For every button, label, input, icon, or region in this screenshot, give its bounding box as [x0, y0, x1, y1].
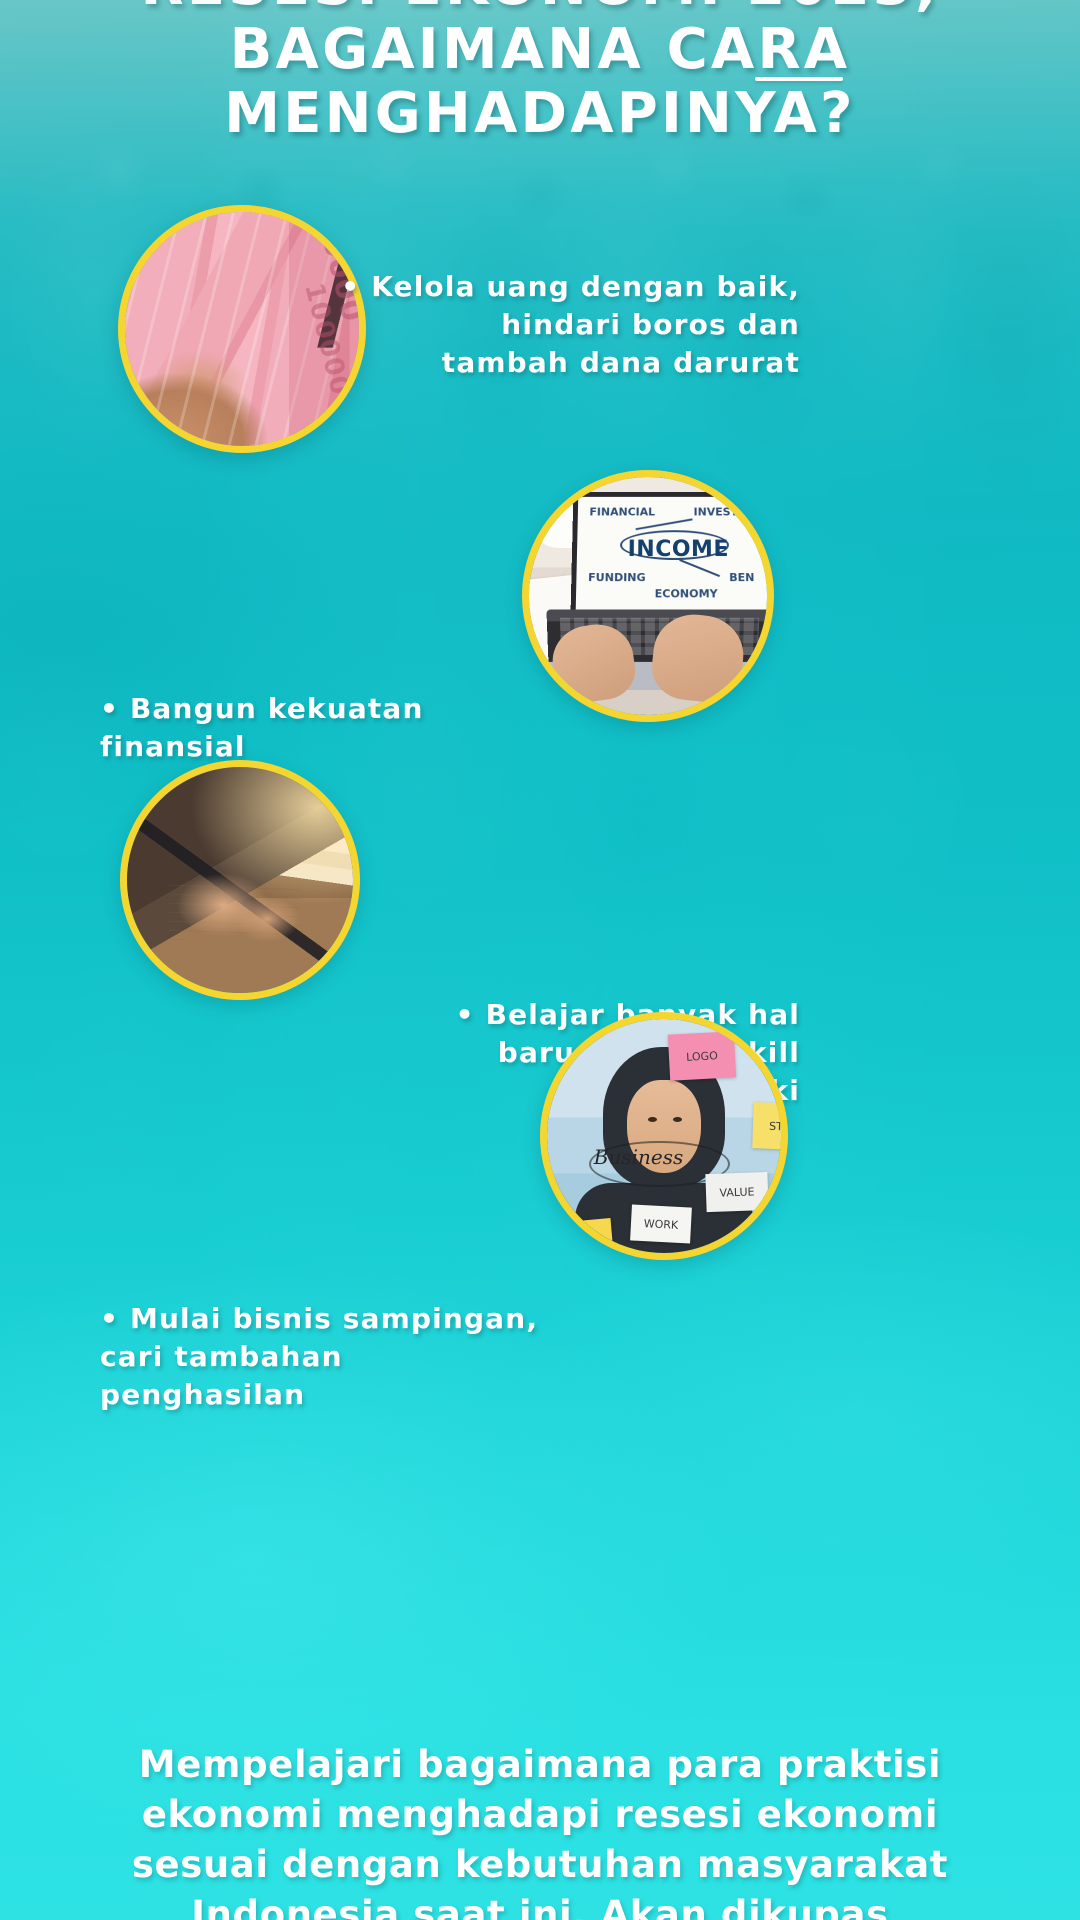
diagram-arrow-1 [636, 519, 693, 531]
business-photo-bubble: Business LOGO ST VALUE WORK [540, 1012, 788, 1260]
laptop-screen: FINANCIAL INVESTING INCOME FUNDING ECONO… [570, 492, 767, 615]
bullet-kelola-uang: • Kelola uang dengan baik, hindari boros… [330, 268, 800, 382]
sticky-note-work: WORK [630, 1205, 692, 1244]
bullet-1-line-3: tambah dana darurat [330, 344, 800, 382]
sticky-note-logo: LOGO [668, 1031, 736, 1080]
business-photo-frame: Business LOGO ST VALUE WORK [547, 1019, 781, 1253]
bullet-2-line-1: • Bangun kekuatan [100, 690, 500, 728]
sticky-note-value: VALUE [705, 1172, 768, 1212]
money-photo-frame: 100000 100000 [125, 212, 359, 446]
eye-right [673, 1117, 682, 1122]
glass-board-word-business: Business [594, 1145, 683, 1169]
screen-label-benefit: BEN [729, 571, 754, 584]
bullet-1-line-1: • Kelola uang dengan baik, [330, 268, 800, 306]
screen-label-economy: ECONOMY [654, 587, 717, 600]
footer-line-1: Mempelajari bagaimana para praktisi [40, 1740, 1040, 1790]
bullet-4-line-3: penghasilan [100, 1376, 570, 1414]
bullet-4-line-2: cari tambahan [100, 1338, 570, 1376]
bullet-bisnis-sampingan: • Mulai bisnis sampingan, cari tambahan … [100, 1300, 570, 1414]
screen-label-funding: FUNDING [588, 571, 646, 584]
sticky-note-corner [564, 1218, 613, 1253]
page-title: RESESI EKONOMI 2023, BAGAIMANA CARA MENG… [0, 0, 1080, 146]
poster-content: RESESI EKONOMI 2023, BAGAIMANA CARA MENG… [0, 0, 1080, 1920]
money-photo-bubble: 100000 100000 [118, 205, 366, 453]
title-line-2: BAGAIMANA CARA [48, 18, 1032, 82]
laptop-photo: FINANCIAL INVESTING INCOME FUNDING ECONO… [529, 477, 767, 715]
footer-line-4: Indonesia saat ini. Akan dikupas [40, 1890, 1040, 1920]
sticky-note-st: ST [752, 1102, 781, 1150]
footer-line-2: ekonomi menghadapi resesi ekonomi [40, 1790, 1040, 1840]
screen-label-income: INCOME [627, 537, 729, 562]
study-photo [127, 767, 353, 993]
title-divider-rule [755, 77, 843, 81]
laptop-photo-frame: FINANCIAL INVESTING INCOME FUNDING ECONO… [529, 477, 767, 715]
title-line-3: MENGHADAPINYA? [48, 82, 1032, 146]
footer-line-3: sesuai dengan kebutuhan masyarakat [40, 1840, 1040, 1890]
business-woman-photo: Business LOGO ST VALUE WORK [547, 1019, 781, 1253]
eye-left [648, 1117, 657, 1122]
study-photo-bubble [120, 760, 360, 1000]
screen-label-investing: INVESTING [693, 506, 760, 519]
footer-paragraph: Mempelajari bagaimana para praktisi ekon… [40, 1740, 1040, 1920]
bullet-2-line-2: finansial [100, 728, 500, 766]
bullet-bangun-kekuatan-finansial: • Bangun kekuatan finansial [100, 690, 500, 766]
bullet-1-line-2: hindari boros dan [330, 306, 800, 344]
bullet-4-line-1: • Mulai bisnis sampingan, [100, 1300, 570, 1338]
title-line-1: RESESI EKONOMI 2023, [48, 0, 1032, 18]
laptop-photo-bubble: FINANCIAL INVESTING INCOME FUNDING ECONO… [522, 470, 774, 722]
screen-label-financial: FINANCIAL [589, 506, 655, 519]
study-photo-frame [127, 767, 353, 993]
